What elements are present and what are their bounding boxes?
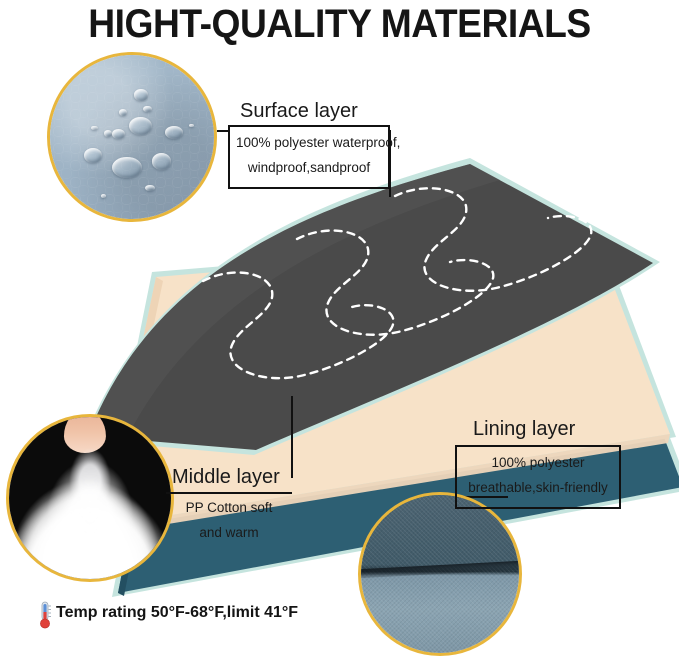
lining-desc-line1: 100% polyester — [463, 451, 613, 476]
temp-rating-text: Temp rating 50°F-68°F,limit 41°F — [56, 604, 298, 622]
water-drop — [134, 89, 149, 100]
surface-desc-line1: 100% polyester waterproof, — [236, 131, 382, 156]
middle-desc-line1: PP Cotton soft — [166, 496, 292, 521]
middle-underline — [166, 492, 292, 494]
water-drop — [129, 117, 152, 135]
middle-leader-stem — [291, 396, 293, 478]
water-drop — [143, 106, 151, 113]
water-drop — [112, 129, 125, 139]
infographic-canvas: HIGHT-QUALITY MATERIALS — [0, 0, 679, 655]
honeycomb-texture-offset — [50, 55, 214, 219]
surface-layer-description: 100% polyester waterproof, windproof,san… — [228, 125, 390, 189]
lining-photo-inset — [358, 492, 522, 656]
middle-layer-heading: Middle layer — [172, 466, 280, 489]
lining-layer-heading: Lining layer — [473, 418, 575, 441]
water-drop — [101, 194, 106, 197]
middle-layer-description: PP Cotton soft and warm — [166, 496, 292, 546]
lining-layer-description: 100% polyester breathable,skin-friendly — [455, 445, 621, 509]
middle-desc-line2: and warm — [166, 521, 292, 546]
water-drop — [119, 109, 127, 116]
water-drop — [112, 157, 142, 178]
surface-layer-heading: Surface layer — [240, 100, 358, 123]
water-drop — [152, 153, 172, 169]
water-drop — [91, 126, 98, 131]
water-drop — [145, 185, 155, 192]
thermometer-icon — [36, 600, 54, 630]
lining-fabric-photo — [361, 495, 519, 653]
pp-cotton-photo — [9, 417, 171, 579]
cotton-fiber — [6, 433, 174, 582]
surface-desc-line2: windproof,sandproof — [236, 156, 382, 181]
surface-photo-inset — [47, 52, 217, 222]
middle-photo-inset — [6, 414, 174, 582]
water-drop — [165, 126, 183, 139]
lining-desc-line2: breathable,skin-friendly — [463, 476, 613, 501]
water-droplets-photo — [50, 55, 214, 219]
